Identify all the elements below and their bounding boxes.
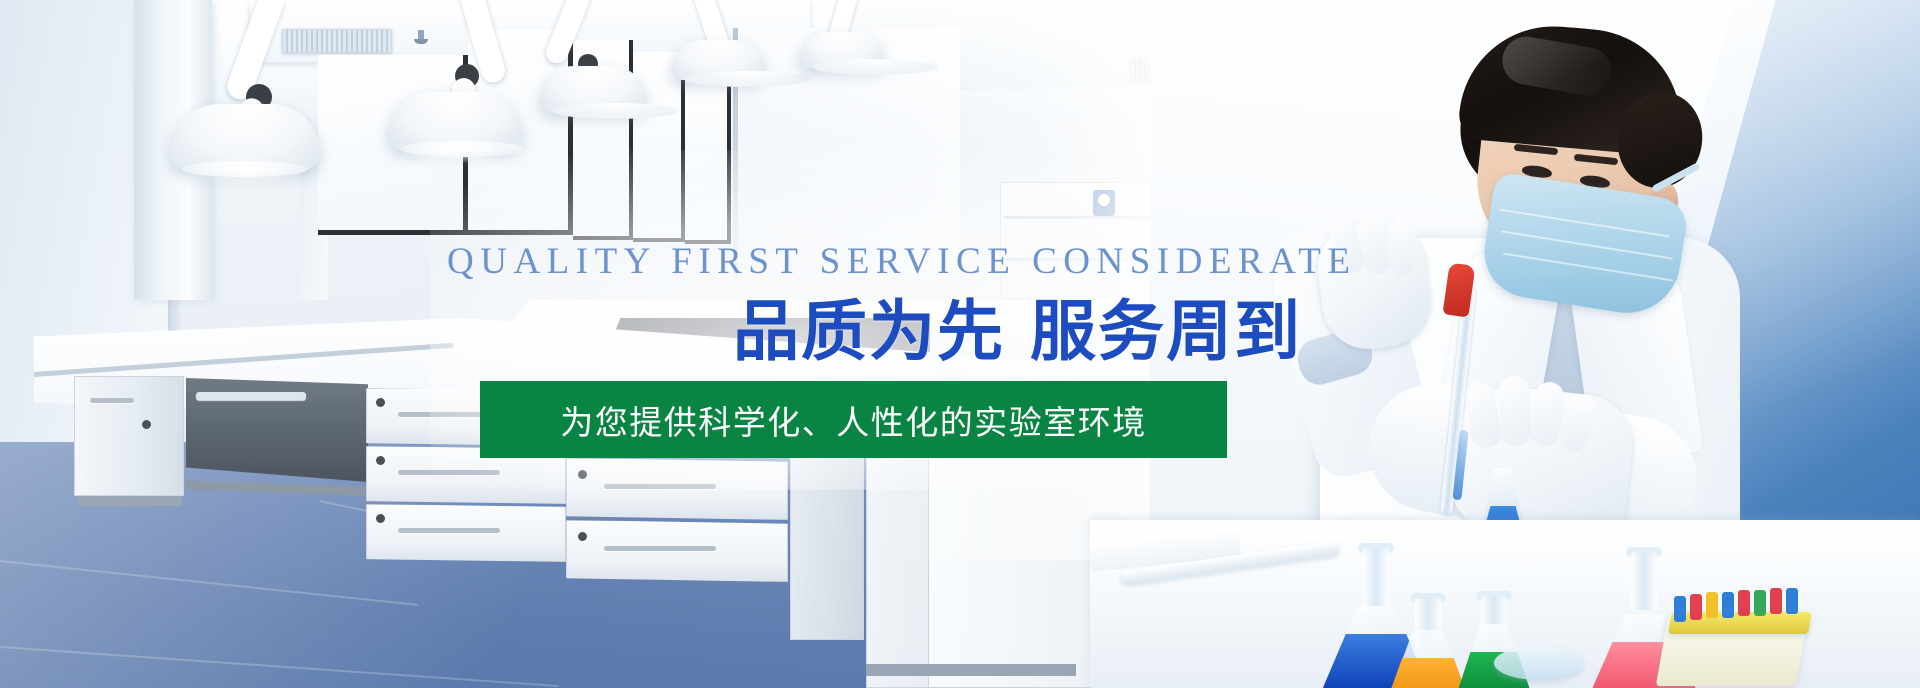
drawer-handle-icon: [398, 528, 500, 533]
test-tube-icon: [1770, 588, 1782, 614]
lamp-glow: [185, 158, 305, 184]
window: [685, 62, 731, 244]
pendant-lamp-icon: [672, 40, 764, 80]
test-tube-icon: [1754, 590, 1766, 616]
drawer-lock-icon: [376, 514, 385, 523]
drawer-lock-icon: [376, 398, 385, 407]
cabinet-handle-icon: [90, 398, 134, 403]
hero-banner: QUALITY FIRST SERVICE CONSIDERATE 品质为先 服…: [0, 0, 1920, 688]
shelf-label-dot: [1098, 194, 1110, 206]
test-tube-icon: [1722, 592, 1734, 618]
petri-dish-icon: [1494, 646, 1584, 680]
drawer-lock-icon: [578, 532, 587, 541]
lamp-glow: [400, 138, 508, 164]
sprinkler-icon: [418, 30, 424, 40]
window: [633, 52, 685, 242]
drawer: [366, 504, 566, 562]
drawer-cabinet-icon: [74, 376, 184, 496]
test-tube-icon: [1674, 596, 1686, 622]
drawer-handle-icon: [398, 470, 500, 475]
pendant-lamp-icon: [540, 66, 646, 112]
cabinet-lock-icon: [142, 420, 151, 429]
test-tube-icon: [1786, 588, 1798, 614]
test-tube-icon: [1690, 594, 1702, 620]
glove-finger: [1499, 375, 1531, 446]
english-tagline: QUALITY FIRST SERVICE CONSIDERATE: [447, 243, 1356, 280]
cabinet-kickplate: [866, 664, 1076, 676]
headline: 品质为先 服务周到: [733, 296, 1302, 367]
flask-neck: [1631, 552, 1657, 610]
drawer-lock-icon: [578, 470, 587, 479]
subheadline-text: 为您提供科学化、人性化的实验室环境: [560, 396, 1147, 444]
drawer: [566, 458, 788, 520]
drawer-handle-icon: [604, 484, 716, 489]
drawer: [566, 520, 788, 582]
cabinet-kickplate: [78, 496, 182, 506]
ceiling-vent-icon: [282, 29, 392, 53]
drawer-handle-icon: [604, 546, 716, 551]
test-tube-icon: [1706, 592, 1718, 618]
subheadline-bar: 为您提供科学化、人性化的实验室环境: [480, 381, 1227, 458]
pull-out-handle-icon: [196, 392, 306, 400]
drawer-lock-icon: [376, 456, 385, 465]
pendant-lamp-icon: [800, 32, 884, 68]
glove-finger: [1388, 217, 1418, 277]
test-tube-icon: [1738, 590, 1750, 616]
